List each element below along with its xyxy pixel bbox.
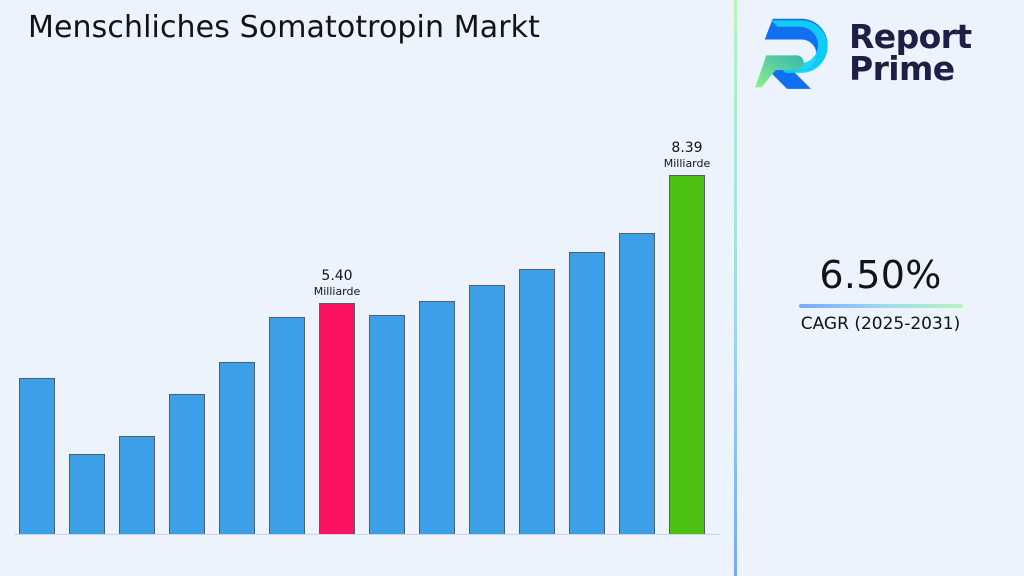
bar-group-2023: 2023: [269, 317, 305, 534]
bar-2019[interactable]: [69, 454, 105, 534]
bar-group-2030: 2030: [619, 233, 655, 534]
bar-2025[interactable]: [369, 315, 405, 534]
bar-group-2024: 5.40Milliarde2024: [319, 303, 355, 534]
brand-line-2: Prime: [849, 53, 972, 85]
brand-logo: Report Prime: [755, 14, 972, 92]
bar-2030[interactable]: [619, 233, 655, 534]
bar-group-2031: 8.39Milliarde2031: [669, 175, 705, 534]
bar-value-label-2024: 5.40Milliarde: [314, 268, 361, 299]
bar-group-2025: 2025: [369, 315, 405, 534]
bar-2018[interactable]: [19, 378, 55, 534]
bar-2029[interactable]: [569, 252, 605, 534]
cagr-value: 6.50%: [737, 252, 1024, 298]
x-axis-line: [14, 534, 720, 535]
bar-group-2027: 2027: [469, 285, 505, 534]
cagr-label: CAGR (2025-2031): [737, 313, 1024, 335]
bar-group-2029: 2029: [569, 252, 605, 534]
cagr-divider-rule: [799, 304, 963, 308]
report-prime-r-logo-icon: [755, 14, 835, 92]
bar-value-unit-2024: Milliarde: [314, 285, 361, 299]
bar-2028[interactable]: [519, 269, 555, 534]
bar-value-number-2024: 5.40: [314, 268, 361, 285]
bar-2026[interactable]: [419, 301, 455, 534]
bar-2020[interactable]: [119, 436, 155, 534]
bar-2027[interactable]: [469, 285, 505, 534]
bar-2031[interactable]: [669, 175, 705, 534]
bar-group-2028: 2028: [519, 269, 555, 534]
slide-root: Menschliches Somatotropin Markt 20182019…: [0, 0, 1024, 576]
bar-2021[interactable]: [169, 394, 205, 534]
bar-group-2019: 2019: [69, 454, 105, 534]
bar-value-number-2031: 8.39: [664, 140, 711, 157]
bar-value-unit-2031: Milliarde: [664, 157, 711, 171]
bar-value-label-2031: 8.39Milliarde: [664, 140, 711, 171]
chart-panel: Menschliches Somatotropin Markt 20182019…: [0, 0, 735, 576]
bar-2024[interactable]: [319, 303, 355, 534]
bar-group-2018: 2018: [19, 378, 55, 534]
info-panel: Report Prime 6.50% CAGR (2025-2031): [737, 0, 1024, 576]
bar-2022[interactable]: [219, 362, 255, 534]
bar-group-2022: 2022: [219, 362, 255, 534]
bar-group-2021: 2021: [169, 394, 205, 534]
bar-group-2026: 2026: [419, 301, 455, 534]
bar-chart: 2018201920202021202220235.40Milliarde202…: [0, 0, 735, 576]
cagr-block: 6.50% CAGR (2025-2031): [737, 252, 1024, 335]
bar-group-2020: 2020: [119, 436, 155, 534]
bar-2023[interactable]: [269, 317, 305, 534]
brand-wordmark: Report Prime: [849, 21, 972, 86]
